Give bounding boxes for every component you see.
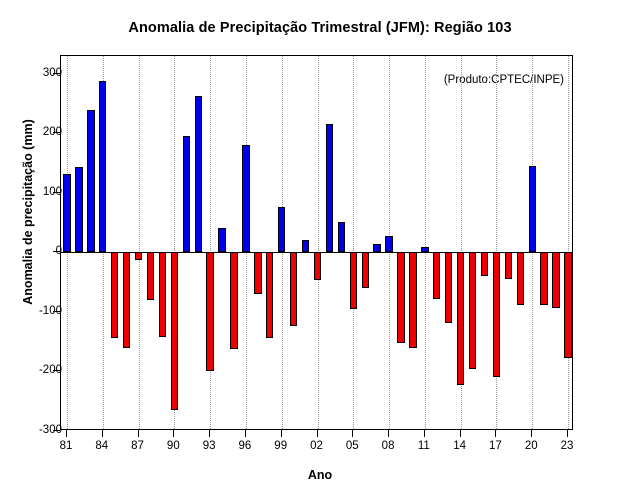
bar	[469, 252, 476, 369]
x-tick-label: 05	[346, 440, 359, 452]
bar	[505, 252, 512, 279]
x-tick-label: 23	[561, 440, 574, 452]
x-tick-label: 14	[453, 440, 466, 452]
bar	[457, 252, 464, 385]
bar	[421, 247, 428, 252]
x-tick-label: 96	[239, 440, 252, 452]
y-tick-label: -200	[12, 364, 62, 376]
x-tick-label: 02	[310, 440, 323, 452]
bar	[350, 252, 357, 309]
bar	[314, 252, 321, 279]
bar	[63, 174, 70, 253]
bar	[206, 252, 213, 371]
bar	[135, 252, 142, 259]
x-tick-mark	[102, 430, 103, 437]
source-annotation: (Produto:CPTEC/INPE)	[444, 74, 564, 86]
grid-line	[139, 56, 140, 429]
x-tick-mark	[424, 430, 425, 437]
grid-line	[425, 56, 426, 429]
x-tick-label: 90	[167, 440, 180, 452]
x-tick-mark	[388, 430, 389, 437]
x-tick-mark	[317, 430, 318, 437]
bar	[218, 228, 225, 252]
x-tick-label: 08	[382, 440, 395, 452]
bar	[445, 252, 452, 322]
bar	[540, 252, 547, 304]
bar	[564, 252, 571, 358]
bar	[385, 236, 392, 253]
bar	[159, 252, 166, 337]
x-tick-label: 20	[525, 440, 538, 452]
bar	[183, 136, 190, 253]
bar	[302, 240, 309, 253]
x-tick-mark	[209, 430, 210, 437]
bar	[397, 252, 404, 342]
bar	[529, 166, 536, 253]
x-tick-mark	[281, 430, 282, 437]
x-tick-mark	[495, 430, 496, 437]
grid-line	[210, 56, 211, 429]
x-tick-mark	[567, 430, 568, 437]
y-axis-label: Anomalia de precipitação (mm)	[21, 42, 35, 382]
x-tick-mark	[138, 430, 139, 437]
x-tick-label: 87	[131, 440, 144, 452]
chart-title: Anomalia de Precipitação Trimestral (JFM…	[0, 20, 640, 36]
bar	[373, 244, 380, 252]
x-tick-mark	[173, 430, 174, 437]
bar	[517, 252, 524, 304]
bar	[75, 167, 82, 253]
y-tick-label: -300	[12, 424, 62, 436]
bar	[171, 252, 178, 409]
grid-line	[568, 56, 569, 429]
bar	[290, 252, 297, 326]
bar	[147, 252, 154, 300]
bar	[195, 96, 202, 252]
x-tick-mark	[460, 430, 461, 437]
grid-line	[318, 56, 319, 429]
x-tick-label: 11	[418, 440, 430, 452]
bar	[123, 252, 130, 347]
bar	[338, 222, 345, 252]
bar	[230, 252, 237, 349]
y-tick-label: 300	[12, 67, 62, 79]
bar	[87, 110, 94, 253]
bar	[254, 252, 261, 294]
bar	[99, 81, 106, 252]
bar	[362, 252, 369, 287]
x-tick-label: 99	[274, 440, 287, 452]
x-tick-mark	[531, 430, 532, 437]
bar	[481, 252, 488, 276]
x-tick-mark	[352, 430, 353, 437]
y-tick-label: -100	[12, 305, 62, 317]
bar	[552, 252, 559, 307]
x-tick-label: 93	[203, 440, 216, 452]
bar	[493, 252, 500, 376]
bar	[326, 124, 333, 253]
x-tick-mark	[66, 430, 67, 437]
bar	[433, 252, 440, 298]
bar	[242, 145, 249, 252]
x-tick-label: 81	[60, 440, 73, 452]
bar	[278, 207, 285, 252]
y-tick-label: 0	[12, 245, 62, 257]
plot-area: (Produto:CPTEC/INPE)	[60, 55, 573, 430]
bar	[111, 252, 118, 337]
x-tick-mark	[245, 430, 246, 437]
grid-line	[353, 56, 354, 429]
y-tick-label: 200	[12, 126, 62, 138]
chart-container: Anomalia de Precipitação Trimestral (JFM…	[0, 0, 640, 500]
y-tick-label: 100	[12, 186, 62, 198]
bar	[266, 252, 273, 338]
x-tick-label: 84	[95, 440, 108, 452]
bar	[409, 252, 416, 347]
x-axis-label: Ano	[0, 468, 640, 482]
x-tick-label: 17	[489, 440, 502, 452]
